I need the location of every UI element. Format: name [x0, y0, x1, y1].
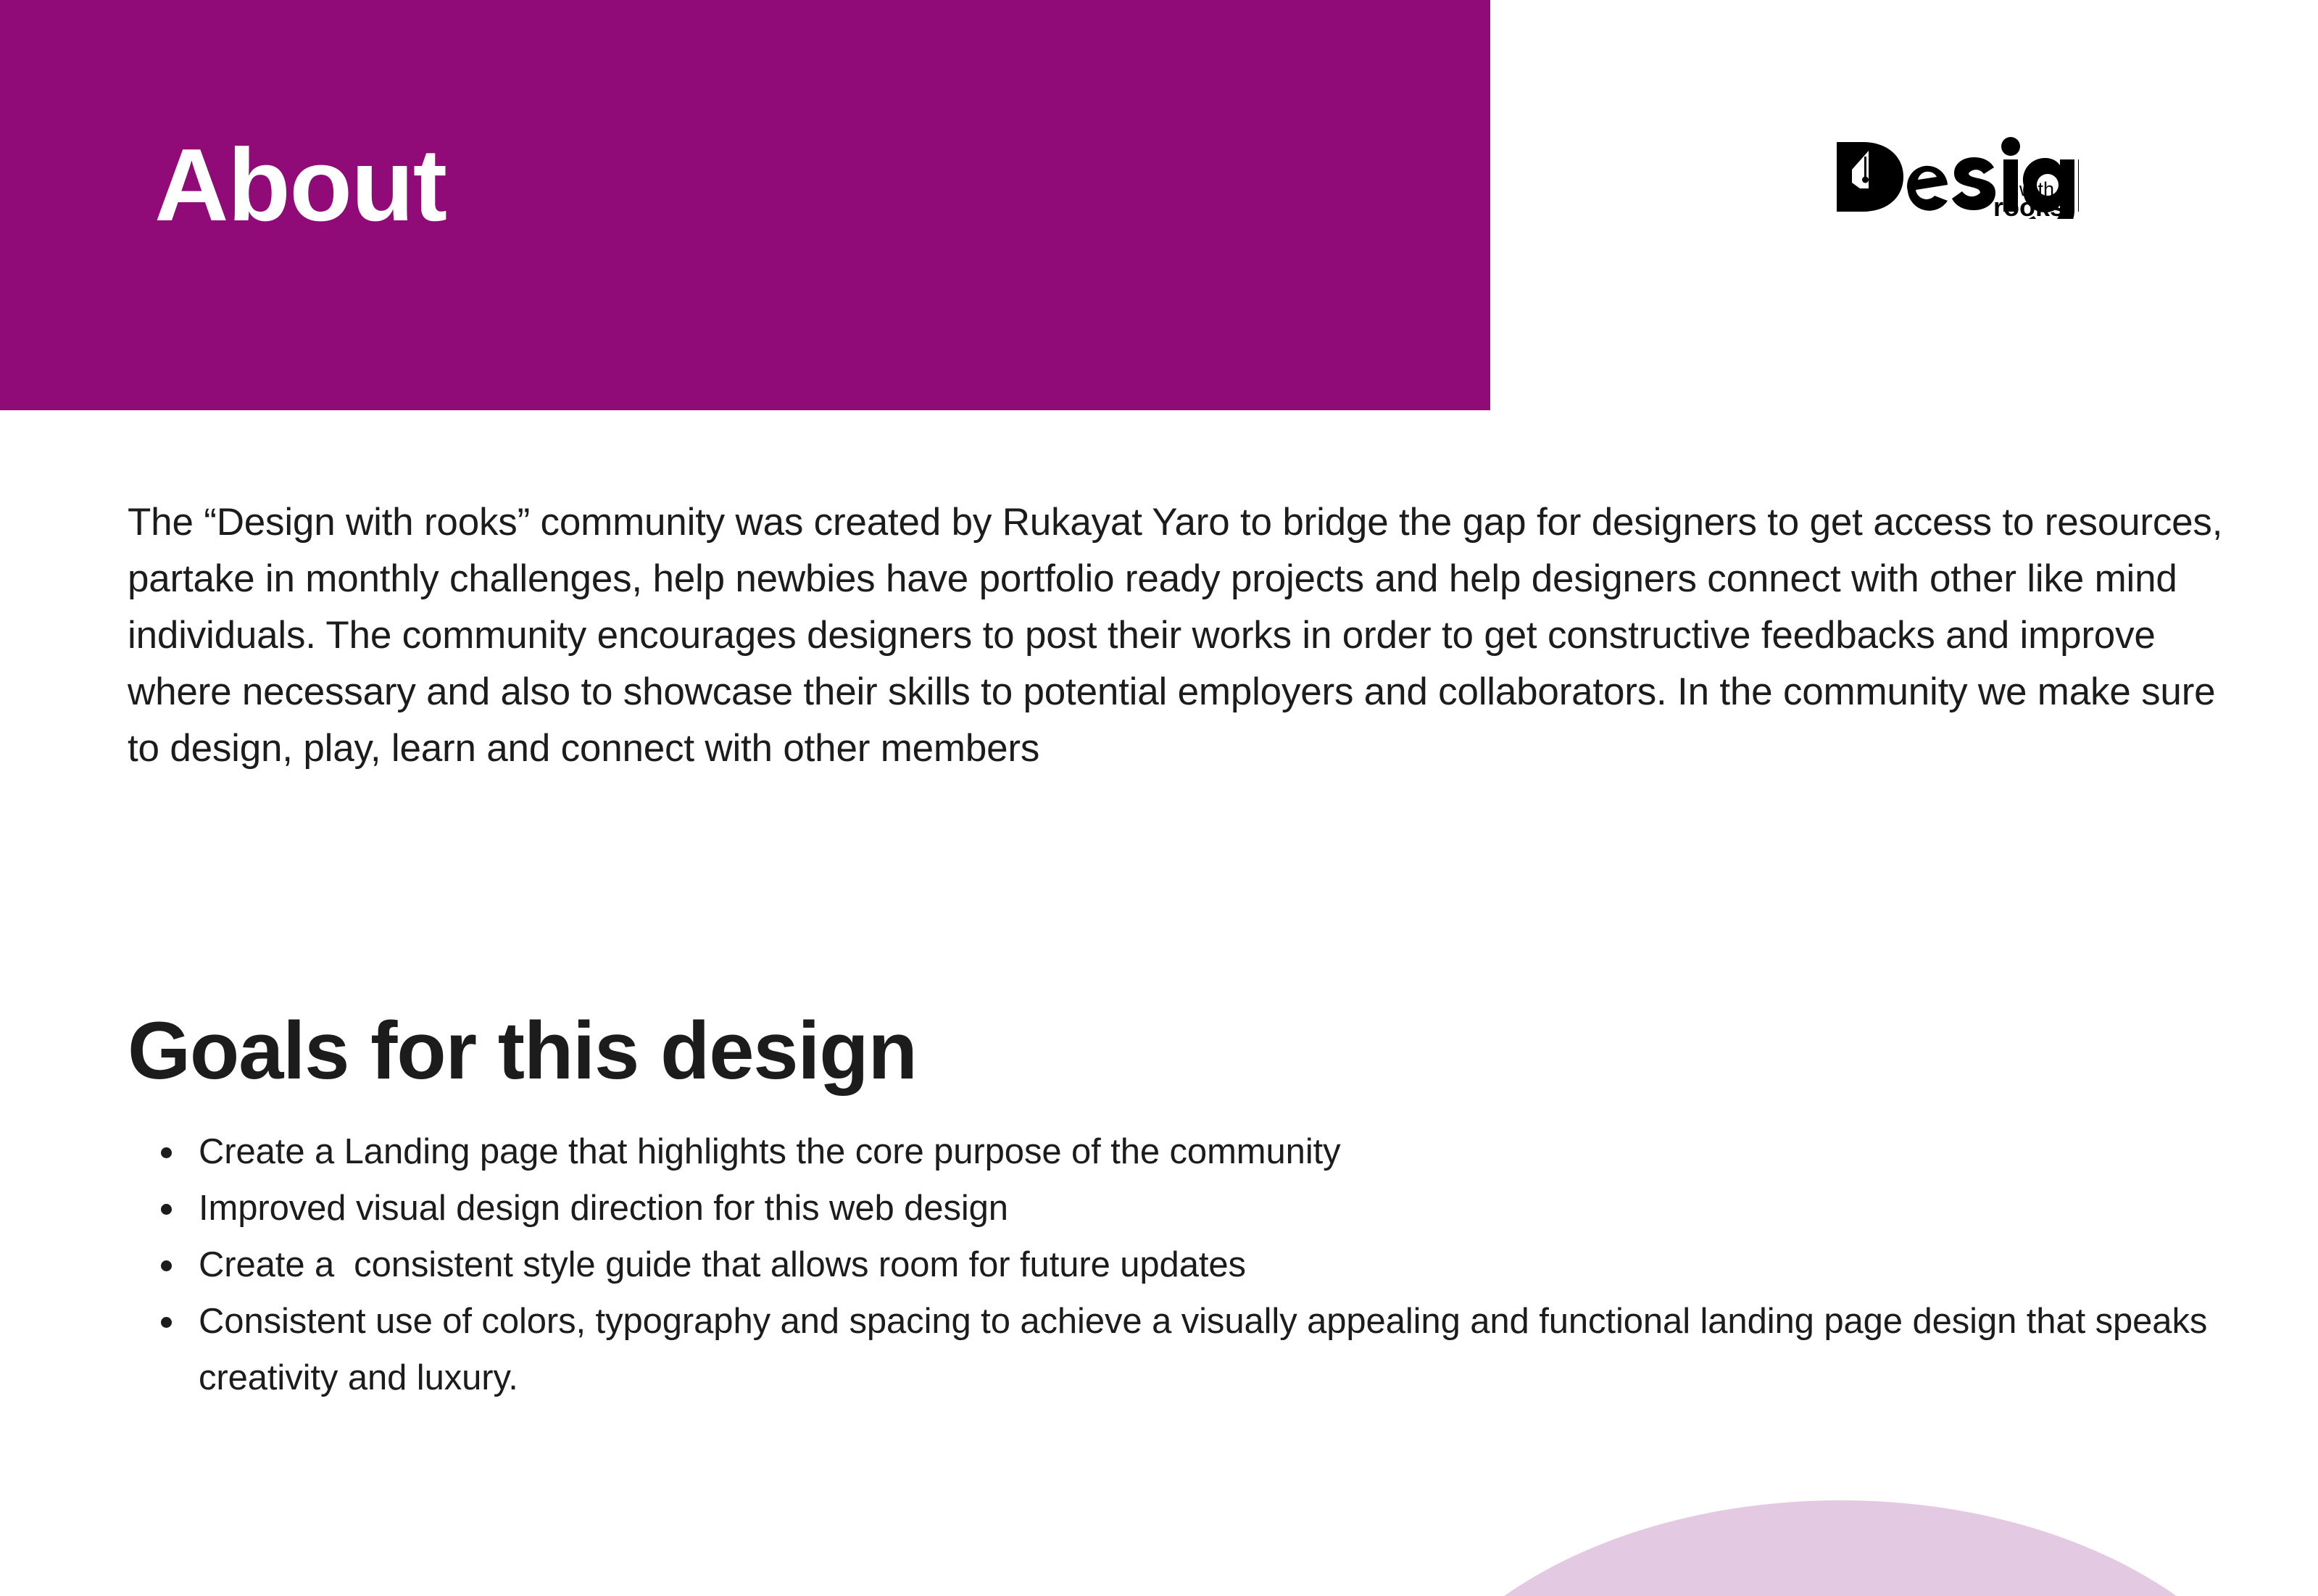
about-paragraph: The “Design with rooks” community was cr… [128, 494, 2230, 777]
list-item: Improved visual design direction for thi… [199, 1180, 2243, 1237]
svg-text:rooks: rooks [1993, 192, 2064, 219]
logo-word-rooks: rooks [1993, 192, 2064, 219]
list-item: Create a Landing page that highlights th… [199, 1123, 2243, 1180]
goals-list: Create a Landing page that highlights th… [142, 1123, 2243, 1406]
bottom-right-ellipse [1383, 1500, 2298, 1596]
list-item: Create a consistent style guide that all… [199, 1237, 2243, 1293]
page-title: About [154, 134, 446, 237]
goals-heading: Goals for this design [128, 1010, 917, 1092]
design-with-rooks-logo: Design with rooks [1832, 132, 2079, 219]
list-item: Consistent use of colors, typography and… [199, 1293, 2243, 1406]
slide-canvas: About Design with rooks [0, 0, 2318, 1596]
